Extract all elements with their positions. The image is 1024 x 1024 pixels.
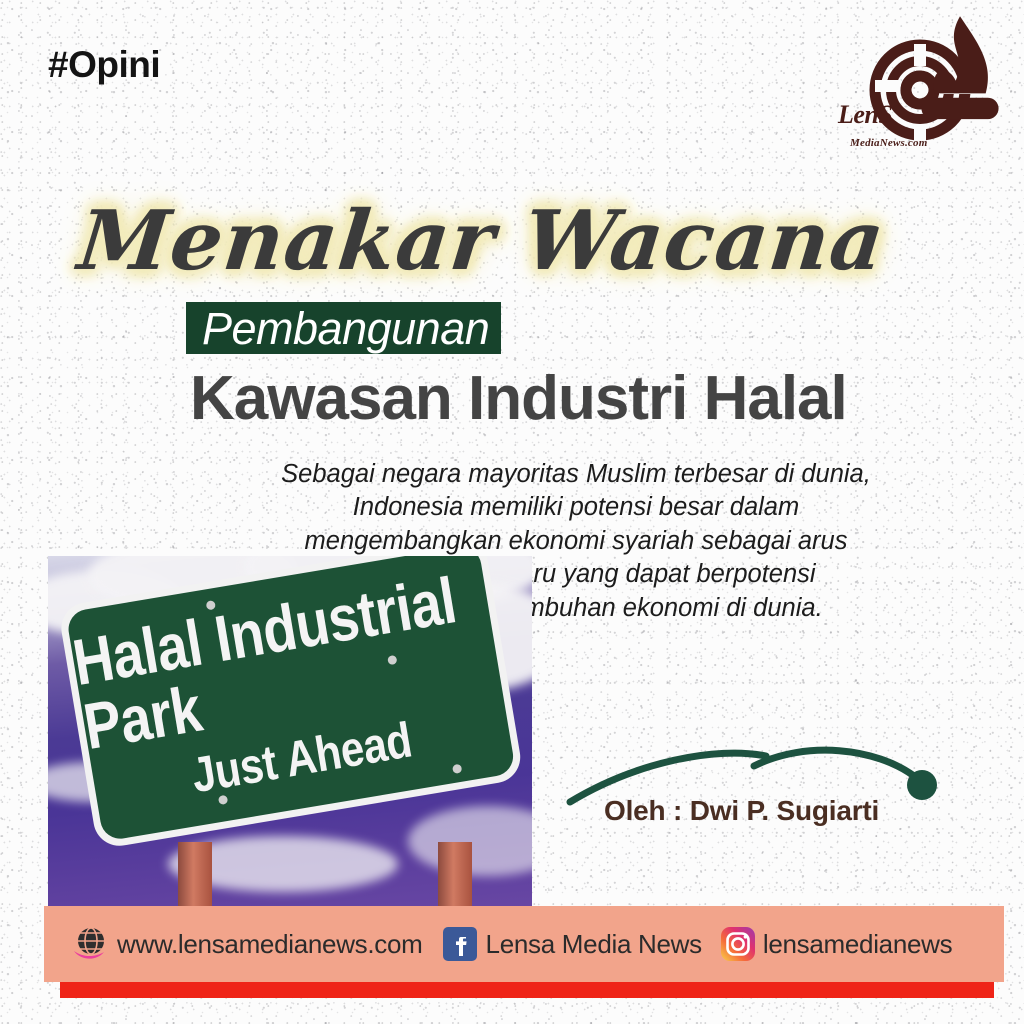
title-bold-row: Kawasan Industri Halal	[0, 366, 1024, 431]
title-script-row: Menakar Wacana	[0, 200, 1024, 304]
author-byline: Oleh : Dwi P. Sugiarti	[604, 795, 879, 827]
instagram-icon	[720, 926, 756, 962]
footer-instagram-label: lensamedianews	[763, 929, 952, 960]
flame-icon	[890, 12, 1024, 132]
footer-website[interactable]: www.lensamedianews.com	[70, 906, 423, 982]
poster-canvas: #Opini LenS MediaNews.com Menakar Wacana	[0, 0, 1024, 1024]
hashtag-label: #Opini	[48, 44, 160, 86]
title-block: Menakar Wacana Pembangunan Kawasan Indus…	[0, 200, 1024, 431]
title-script-line: Menakar Wacana	[75, 200, 889, 282]
sign-bolt	[452, 764, 462, 774]
footer-website-label: www.lensamedianews.com	[117, 929, 423, 960]
halal-industrial-park-road-sign-photo: Halal Industrial Park Just Ahead	[48, 556, 532, 932]
logo-wordmark: LenS	[838, 100, 892, 130]
title-bold-line: Kawasan Industri Halal	[190, 364, 847, 433]
footer-bar: www.lensamedianews.com Lensa Media News	[44, 906, 1004, 982]
facebook-icon	[441, 925, 479, 963]
road-sign: Halal Industrial Park Just Ahead	[57, 556, 524, 850]
footer-facebook[interactable]: Lensa Media News	[441, 906, 702, 982]
globe-icon	[70, 924, 110, 964]
title-green-banner: Pembangunan	[186, 302, 501, 354]
footer-instagram[interactable]: lensamedianews	[720, 906, 952, 982]
title-banner-line: Pembangunan	[202, 306, 489, 351]
swoosh-dot	[907, 770, 937, 800]
logo-subtext: MediaNews.com	[850, 137, 927, 149]
logo: LenS MediaNews.com	[836, 38, 976, 158]
sign-bolt	[218, 795, 228, 805]
title-banner-row: Pembangunan	[0, 302, 1024, 360]
footer-facebook-label: Lensa Media News	[486, 929, 702, 960]
